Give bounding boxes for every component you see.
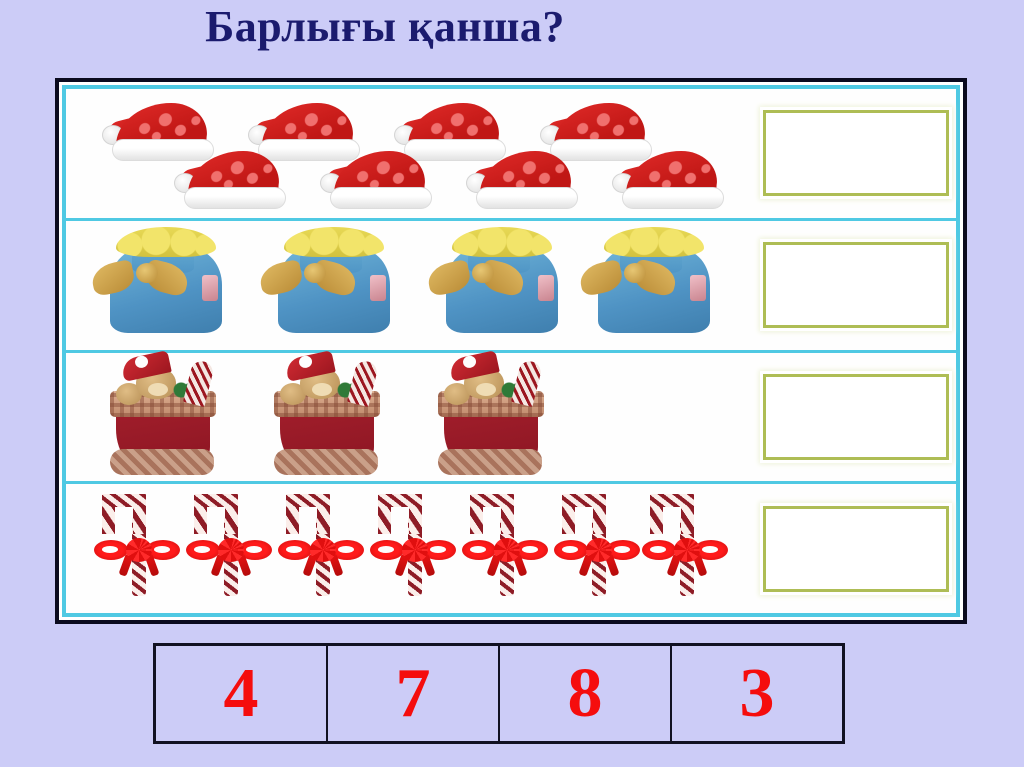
candy-cane-icon xyxy=(188,492,272,596)
gift-sack-icon xyxy=(430,227,570,335)
answer-area-gift-sacks xyxy=(756,221,956,350)
candy-cane-icon xyxy=(96,492,180,596)
task-row-gift-sacks xyxy=(66,221,956,353)
task-row-candy-canes xyxy=(66,484,956,613)
santa-hat-icon xyxy=(612,151,724,209)
answer-area-santa-hats xyxy=(756,89,956,218)
items-area-santa-hats xyxy=(66,89,756,218)
santa-hat-icon xyxy=(174,151,286,209)
candy-cane-icon xyxy=(464,492,548,596)
number-choice-1[interactable]: 4 xyxy=(156,646,328,741)
page-title: Барлығы қанша? xyxy=(0,2,770,52)
answer-box-gift-sacks[interactable] xyxy=(763,242,949,328)
answer-box-candy-canes[interactable] xyxy=(763,506,949,592)
exercise-panel xyxy=(55,78,967,624)
christmas-stocking-icon xyxy=(100,355,232,477)
candy-cane-icon xyxy=(372,492,456,596)
task-row-santa-hats xyxy=(66,89,956,221)
gift-sack-icon xyxy=(94,227,234,335)
candy-cane-icon xyxy=(644,492,728,596)
panel-inner-frame xyxy=(62,85,960,617)
gift-sack-icon xyxy=(582,227,722,335)
candy-cane-icon xyxy=(556,492,640,596)
number-choice-2[interactable]: 7 xyxy=(328,646,500,741)
answer-area-stockings xyxy=(756,353,956,482)
santa-hat-icon xyxy=(466,151,578,209)
items-area-stockings xyxy=(66,353,756,482)
christmas-stocking-icon xyxy=(428,355,560,477)
number-choice-table: 4 7 8 3 xyxy=(153,643,845,744)
christmas-stocking-icon xyxy=(264,355,396,477)
items-area-gift-sacks xyxy=(66,221,756,350)
answer-box-stockings[interactable] xyxy=(763,374,949,460)
items-area-candy-canes xyxy=(66,484,756,613)
santa-hat-icon xyxy=(320,151,432,209)
number-choice-4[interactable]: 3 xyxy=(672,646,842,741)
number-choice-3[interactable]: 8 xyxy=(500,646,672,741)
answer-area-candy-canes xyxy=(756,484,956,613)
answer-box-santa-hats[interactable] xyxy=(763,110,949,196)
task-row-stockings xyxy=(66,353,956,485)
gift-sack-icon xyxy=(262,227,402,335)
candy-cane-icon xyxy=(280,492,364,596)
